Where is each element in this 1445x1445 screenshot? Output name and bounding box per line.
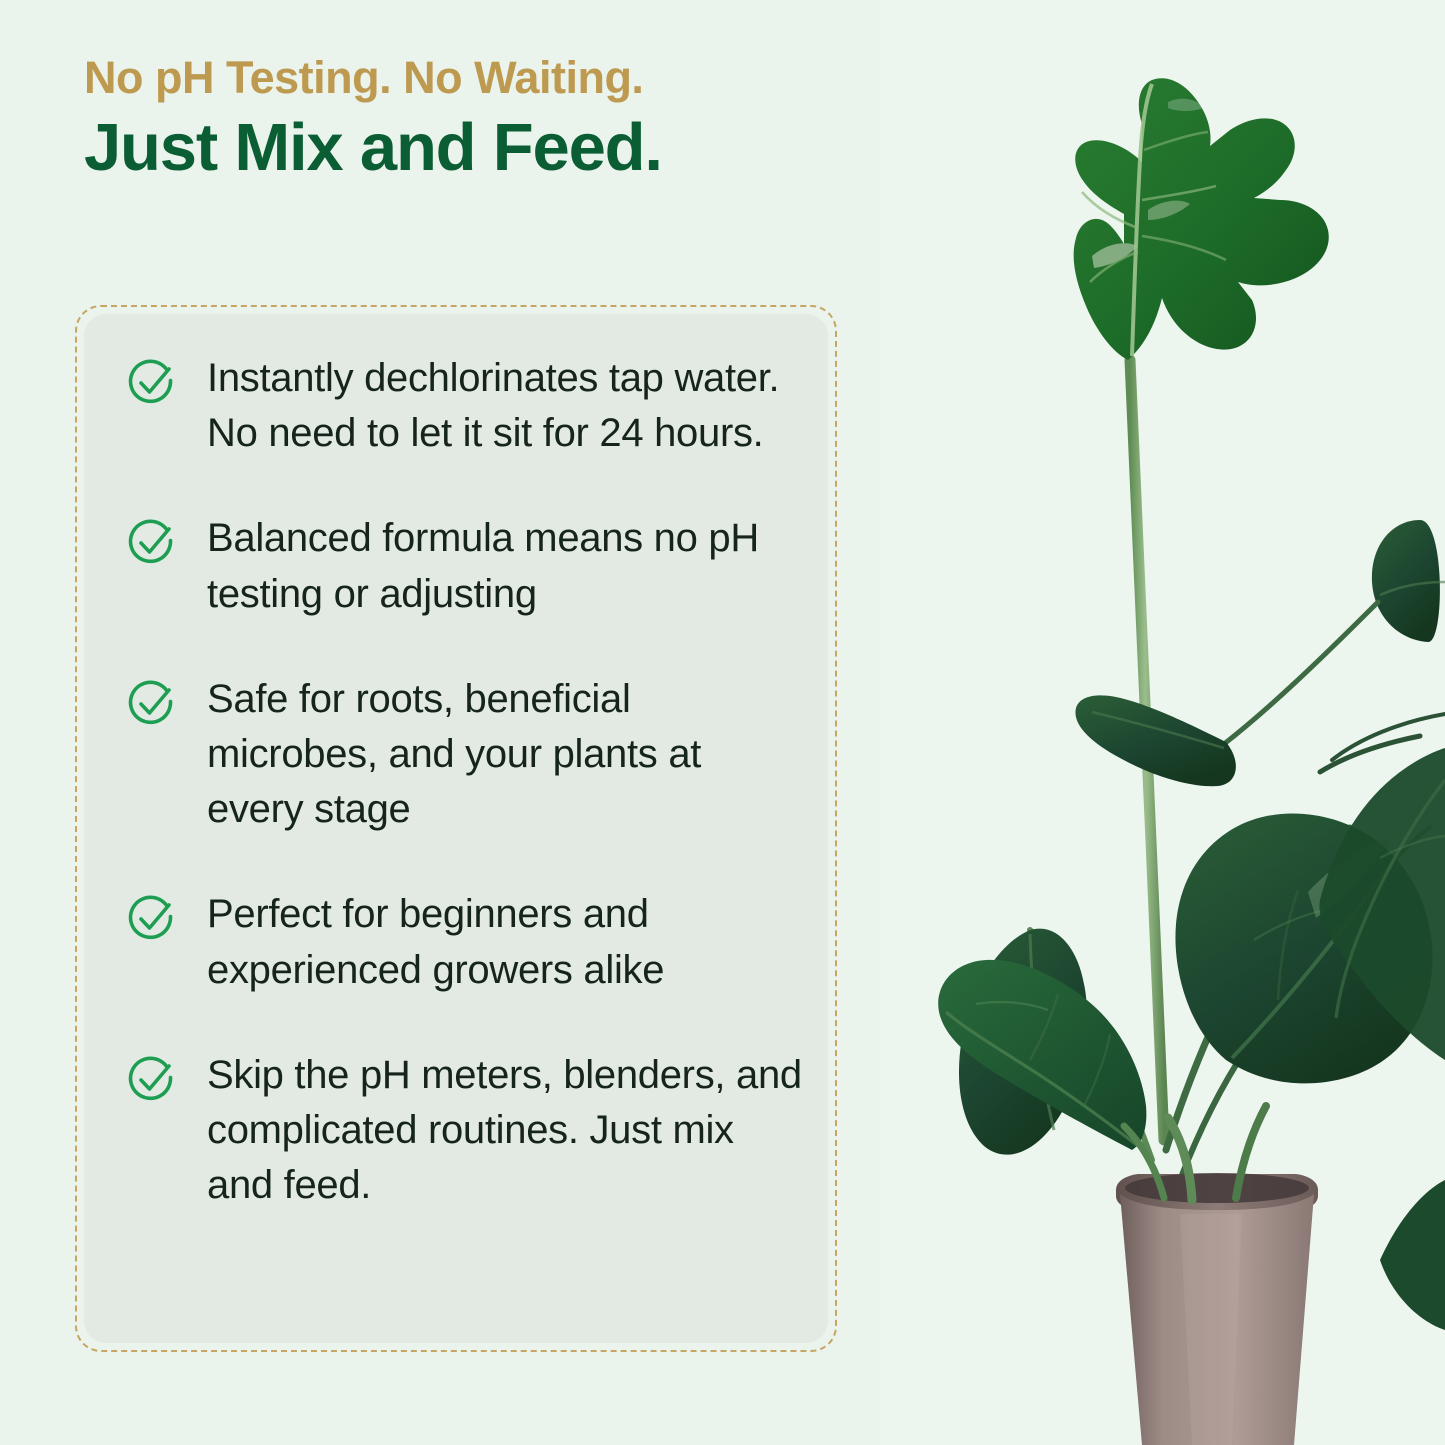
benefits-card: Instantly dechlorinates tap water. No ne… — [75, 305, 837, 1352]
list-item: Safe for roots, beneficial microbes, and… — [125, 672, 809, 838]
promo-infographic: No pH Testing. No Waiting. Just Mix and … — [0, 0, 1445, 1445]
check-circle-icon — [125, 517, 177, 569]
plant-pot — [1116, 1173, 1318, 1445]
list-item-label: Instantly dechlorinates tap water. No ne… — [207, 351, 807, 461]
list-item: Perfect for beginners and experienced gr… — [125, 887, 809, 997]
benefits-list: Instantly dechlorinates tap water. No ne… — [125, 351, 809, 1330]
list-item-label: Balanced formula means no pH testing or … — [207, 511, 807, 621]
check-circle-icon — [125, 893, 177, 945]
headline-block: No pH Testing. No Waiting. Just Mix and … — [84, 52, 984, 185]
list-item: Skip the pH meters, blenders, and compli… — [125, 1048, 809, 1214]
check-circle-icon — [125, 678, 177, 730]
list-item-label: Safe for roots, beneficial microbes, and… — [207, 672, 807, 838]
headline-kicker: No pH Testing. No Waiting. — [84, 52, 984, 104]
list-item: Instantly dechlorinates tap water. No ne… — [125, 351, 809, 461]
list-item-label: Skip the pH meters, blenders, and compli… — [207, 1048, 807, 1214]
list-item-label: Perfect for beginners and experienced gr… — [207, 887, 807, 997]
check-circle-icon — [125, 357, 177, 409]
check-circle-icon — [125, 1054, 177, 1106]
headline-main: Just Mix and Feed. — [84, 110, 984, 185]
list-item: Balanced formula means no pH testing or … — [125, 511, 809, 621]
plant-photo — [880, 0, 1445, 1445]
